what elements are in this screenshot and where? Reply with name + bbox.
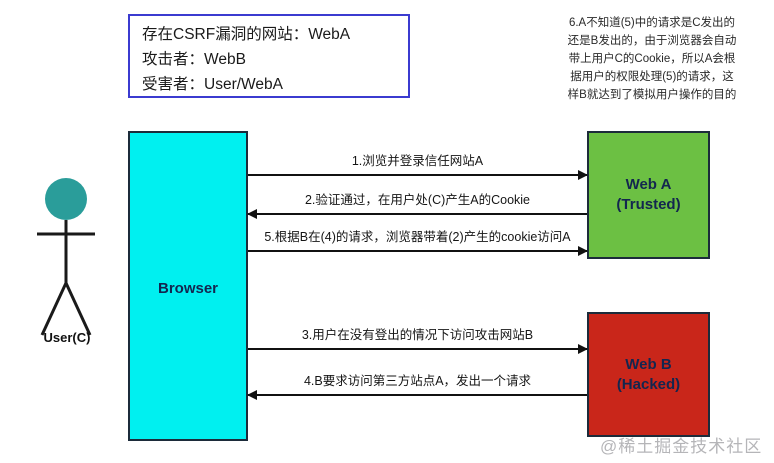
node-web-a-subtitle: (Trusted) xyxy=(616,195,680,215)
flow-3-arrow xyxy=(248,348,587,350)
flow-4-label: 4.B要求访问第三方站点A，发出一个请求 xyxy=(248,370,587,389)
flow-4-arrow xyxy=(248,394,587,396)
flow-5-label: 5.根据B在(4)的请求，浏览器带着(2)产生的cookie访问A xyxy=(244,226,591,245)
flow-1-label: 1.浏览并登录信任网站A xyxy=(248,150,587,169)
node-web-a-title: Web A xyxy=(626,175,672,195)
watermark: @稀土掘金技术社区 xyxy=(600,432,762,457)
info-box: 存在CSRF漏洞的网站：WebA 攻击者：WebB 受害者：User/WebA xyxy=(128,14,410,98)
node-web-a: Web A (Trusted) xyxy=(587,131,710,259)
note-line-2: 还是B发出的，由于浏览器会自动 xyxy=(533,32,771,50)
actor-label: User(C) xyxy=(26,330,108,345)
flow-5-arrow xyxy=(248,250,587,252)
diagram-canvas: 存在CSRF漏洞的网站：WebA 攻击者：WebB 受害者：User/WebA … xyxy=(0,0,774,463)
info-box-line-1: 存在CSRF漏洞的网站：WebA xyxy=(142,22,398,47)
node-browser-title: Browser xyxy=(158,279,218,299)
info-box-line-3: 受害者：User/WebA xyxy=(142,72,398,97)
flow-2-arrow xyxy=(248,213,587,215)
node-web-b: Web B (Hacked) xyxy=(587,312,710,437)
node-browser: Browser xyxy=(128,131,248,441)
note-line-5: 样B就达到了模拟用户操作的目的 xyxy=(533,86,771,104)
node-web-b-subtitle: (Hacked) xyxy=(617,375,680,395)
flow-2-label: 2.验证通过，在用户处(C)产生A的Cookie xyxy=(248,189,587,208)
note-line-4: 据用户的权限处理(5)的请求，这 xyxy=(533,68,771,86)
note-line-1: 6.A不知道(5)中的请求是C发出的 xyxy=(533,14,771,32)
info-box-line-2: 攻击者：WebB xyxy=(142,47,398,72)
flow-3-label: 3.用户在没有登出的情况下访问攻击网站B xyxy=(248,324,587,343)
actor-stick-figure-icon xyxy=(30,175,102,340)
note-block: 6.A不知道(5)中的请求是C发出的 还是B发出的，由于浏览器会自动 带上用户C… xyxy=(533,14,771,104)
flow-1-arrow xyxy=(248,174,587,176)
node-web-b-title: Web B xyxy=(625,355,671,375)
note-line-3: 带上用户C的Cookie，所以A会根 xyxy=(533,50,771,68)
